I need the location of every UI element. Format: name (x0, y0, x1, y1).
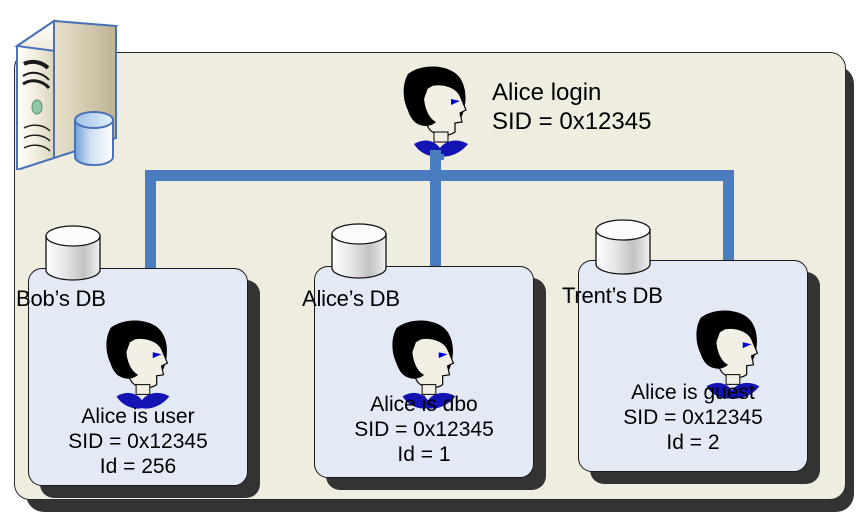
db-detail-line-3: Id = 1 (314, 442, 534, 467)
diagram-canvas: Alice login SID = 0x12345 (0, 0, 864, 529)
db-detail-line-3: Id = 256 (28, 454, 248, 479)
db-title-1: Bob’s DB (16, 286, 106, 312)
db-detail-line-2: SID = 0x12345 (578, 405, 808, 430)
db-detail-line-3: Id = 2 (578, 430, 808, 455)
db-detail-line-1: Alice is user (28, 404, 248, 429)
db-title-2: Alice’s DB (302, 286, 400, 312)
database-cylinder-icon-2 (328, 222, 390, 284)
db-title-3: Trent’s DB (562, 283, 663, 309)
db-detail-line-2: SID = 0x12345 (314, 417, 534, 442)
db-detail-line-2: SID = 0x12345 (28, 429, 248, 454)
db-detail-line-1: Alice is dbo (314, 392, 534, 417)
db-detail-line-1: Alice is guest (578, 380, 808, 405)
database-cylinder-icon-1 (42, 224, 104, 286)
db-details-3: Alice is guest SID = 0x12345 Id = 2 (578, 380, 808, 455)
database-cylinder-icon-3 (592, 218, 654, 280)
db-details-2: Alice is dbo SID = 0x12345 Id = 1 (314, 392, 534, 467)
db-details-1: Alice is user SID = 0x12345 Id = 256 (28, 404, 248, 479)
person-profile-icon-db-1 (100, 320, 182, 412)
